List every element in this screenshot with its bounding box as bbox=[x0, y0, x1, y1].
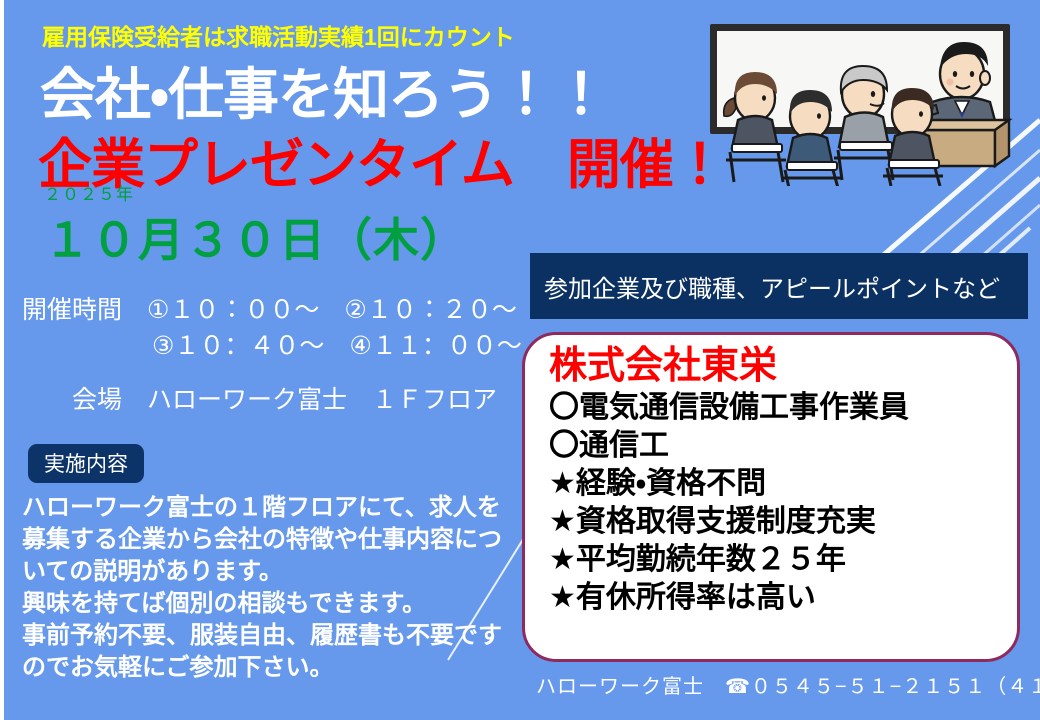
section-badge-details: 実施内容 bbox=[28, 444, 144, 483]
event-date: １０月３０日（木） bbox=[44, 204, 467, 270]
company-list-item: ★平均勤続年数２５年 bbox=[549, 541, 1017, 579]
description-line: 興味を持てば個別の相談もできます。 bbox=[22, 588, 542, 620]
participating-companies-banner: 参加企業及び職種、アピールポイントなど bbox=[530, 253, 1028, 319]
schedule-row-1: 開催時間 ①１０：００〜 ②１０：２０〜 bbox=[22, 296, 517, 324]
company-list-item: ★経験・資格不問 bbox=[549, 465, 1017, 503]
banner-label: 参加企業及び職種、アピールポイントなど bbox=[530, 269, 1000, 304]
company-list-item: ★有休所得率は高い bbox=[549, 579, 1017, 617]
description-line: 募集する企業から会社の特徴や仕事内容につ bbox=[22, 524, 542, 556]
company-name: 株式会社東栄 bbox=[549, 343, 1017, 389]
seminar-presentation-icon bbox=[700, 6, 1030, 186]
left-edge-strip bbox=[0, 0, 4, 720]
company-info-card: 株式会社東栄 〇電気通信設備工事作業員 〇通信工 ★経験・資格不問 ★資格取得支… bbox=[522, 332, 1020, 662]
contact-footer: ハローワーク富士 ☎０５４５−５１−２１５１（４１＃） bbox=[536, 670, 1040, 699]
description-line: ハローワーク富士の１階フロアにて、求人を bbox=[22, 492, 542, 524]
poster-title-line1: 会社・仕事を知ろう！！ bbox=[40, 50, 608, 131]
schedule-row-2: ③１０：４０〜 ④１１：００〜 bbox=[22, 328, 522, 364]
company-list-item: 〇電気通信設備工事作業員 bbox=[549, 389, 1017, 427]
description-line: いての説明があります。 bbox=[22, 556, 542, 588]
kicker-note: 雇用保険受給者は求職活動実績1回にカウント bbox=[42, 18, 515, 52]
company-list-item: ★資格取得支援制度充実 bbox=[549, 503, 1017, 541]
event-year: ２０２５年 bbox=[44, 180, 134, 205]
poster-title-line2: 企業プレゼンタイム 開催！ bbox=[38, 120, 726, 199]
event-venue: 会場 ハローワーク富士 １Ｆフロア bbox=[72, 380, 497, 416]
company-highlight-list: 〇電気通信設備工事作業員 〇通信工 ★経験・資格不問 ★資格取得支援制度充実 ★… bbox=[549, 389, 1017, 617]
event-schedule: 開催時間 ①１０：００〜 ②１０：２０〜 ③１０：４０〜 ④１１：００〜 bbox=[22, 292, 522, 364]
description-line: のでお気軽にご参加下さい。 bbox=[22, 652, 542, 684]
event-description: ハローワーク富士の１階フロアにて、求人を 募集する企業から会社の特徴や仕事内容に… bbox=[22, 492, 542, 684]
company-list-item: 〇通信工 bbox=[549, 427, 1017, 465]
poster-canvas: 雇用保険受給者は求職活動実績1回にカウント 会社・仕事を知ろう！！ 企業プレゼン… bbox=[0, 0, 1040, 720]
description-line: 事前予約不要、服装自由、履歴書も不要です bbox=[22, 620, 542, 652]
